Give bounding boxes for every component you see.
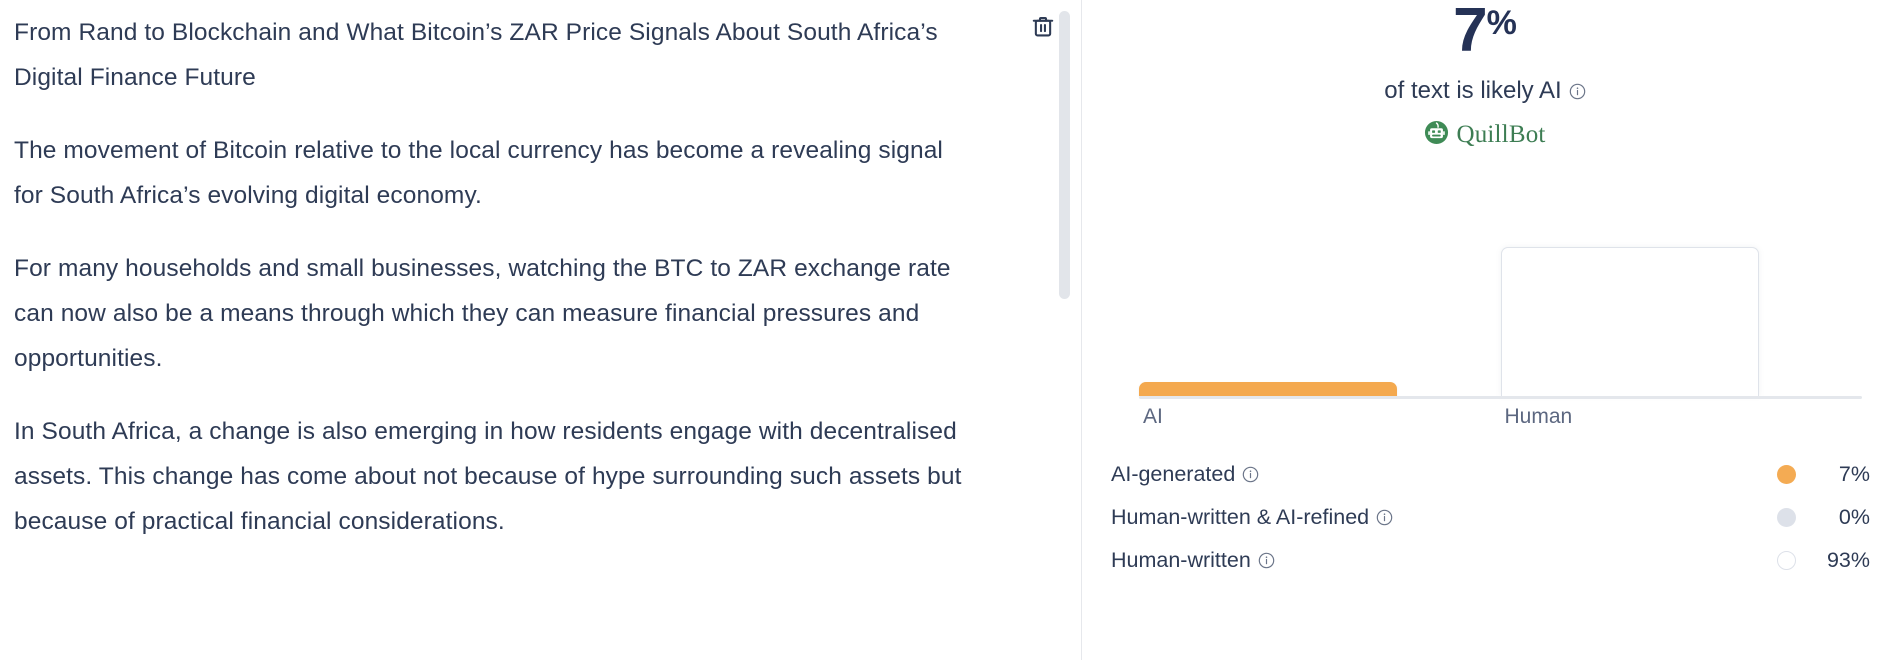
legend-dot-ai xyxy=(1777,465,1796,484)
quillbot-brand-name: QuillBot xyxy=(1456,122,1545,147)
document-paragraph: In South Africa, a change is also emergi… xyxy=(14,409,974,544)
breakdown-legend: AI-generated 7% Human-written & AI-ref xyxy=(1111,453,1870,582)
legend-label-text: AI-generated xyxy=(1111,462,1235,487)
document-paragraph: The movement of Bitcoin relative to the … xyxy=(14,128,974,218)
legend-label: Human-written xyxy=(1111,548,1275,573)
tick-label-human: Human xyxy=(1501,402,1863,432)
chart-baseline-axis xyxy=(1139,396,1862,399)
bar-column-ai xyxy=(1139,190,1501,396)
bar-ai xyxy=(1139,382,1397,396)
document-title: From Rand to Blockchain and What Bitcoin… xyxy=(14,10,939,100)
chart-bars xyxy=(1139,190,1862,396)
legend-value: 0% xyxy=(1796,505,1870,530)
legend-dot-human xyxy=(1777,551,1796,570)
legend-row-human-written-ai-refined[interactable]: Human-written & AI-refined 0% xyxy=(1111,496,1870,539)
document-paragraph: For many households and small businesses… xyxy=(14,246,974,381)
legend-label-text: Human-written xyxy=(1111,548,1251,573)
delete-text-button[interactable] xyxy=(1028,12,1058,42)
document-pane: From Rand to Blockchain and What Bitcoin… xyxy=(0,0,1082,660)
legend-label-text: Human-written & AI-refined xyxy=(1111,505,1369,530)
legend-row-ai-generated[interactable]: AI-generated 7% xyxy=(1111,453,1870,496)
score-value: 7 xyxy=(1453,2,1486,61)
document-scroll-area[interactable]: From Rand to Blockchain and What Bitcoin… xyxy=(0,0,1020,660)
quillbot-robot-icon xyxy=(1424,120,1449,150)
ai-detector-screen: From Rand to Blockchain and What Bitcoin… xyxy=(0,0,1888,660)
info-icon[interactable] xyxy=(1258,552,1275,569)
ai-score: 7 % xyxy=(1453,2,1517,61)
legend-label: AI-generated xyxy=(1111,462,1259,487)
bar-column-human xyxy=(1501,190,1863,396)
legend-label: Human-written & AI-refined xyxy=(1111,505,1393,530)
score-caption-text: of text is likely AI xyxy=(1384,77,1561,106)
tick-label-ai: AI xyxy=(1139,402,1501,432)
legend-dot-refined xyxy=(1777,508,1796,527)
info-icon[interactable] xyxy=(1376,509,1393,526)
bar-human xyxy=(1501,247,1759,396)
result-panel: 7 % of text is likely AI xyxy=(1082,0,1888,660)
legend-value: 93% xyxy=(1796,548,1870,573)
score-caption: of text is likely AI xyxy=(1082,77,1888,106)
trash-icon xyxy=(1030,14,1056,40)
legend-row-human-written[interactable]: Human-written 93% xyxy=(1111,539,1870,582)
info-icon[interactable] xyxy=(1569,83,1586,100)
quillbot-brand: QuillBot xyxy=(1082,120,1888,150)
score-percent-symbol: % xyxy=(1487,6,1517,40)
legend-value: 7% xyxy=(1796,462,1870,487)
info-icon[interactable] xyxy=(1242,466,1259,483)
ai-human-bar-chart: AI Human xyxy=(1082,190,1888,410)
score-block: 7 % of text is likely AI xyxy=(1082,2,1888,150)
chart-tick-labels: AI Human xyxy=(1139,402,1862,432)
document-scrollbar-thumb[interactable] xyxy=(1059,11,1070,299)
